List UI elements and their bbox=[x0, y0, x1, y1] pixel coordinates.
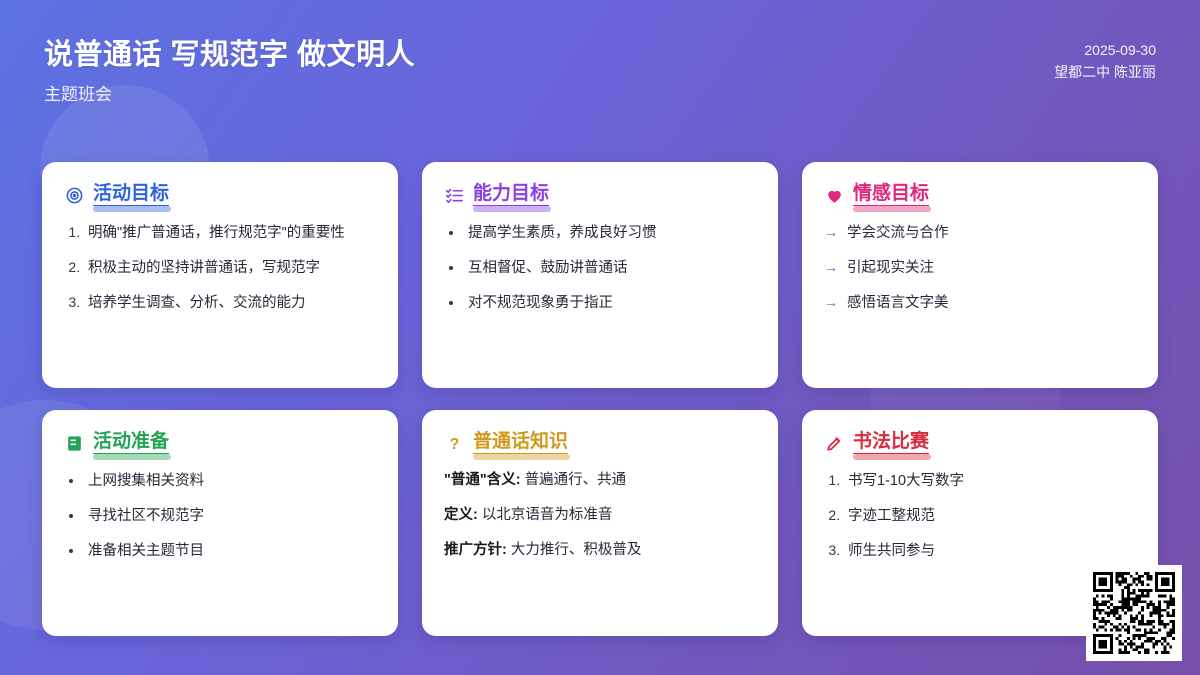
list-item: 师生共同参与 bbox=[844, 540, 1136, 562]
list-item-value: 大力推行、积极普及 bbox=[511, 542, 642, 558]
list-item-key: 定义: bbox=[444, 507, 478, 523]
qr-code-image bbox=[1093, 572, 1175, 654]
card-title: 活动目标 bbox=[93, 184, 169, 206]
arrow-right-icon: → bbox=[824, 292, 838, 312]
checklist-icon bbox=[444, 185, 464, 205]
card-title-underline bbox=[853, 454, 931, 460]
card-title-underline bbox=[853, 206, 931, 212]
list-item: 定义: 以北京语音为标准音 bbox=[444, 505, 756, 526]
card-title-underline bbox=[473, 454, 570, 460]
list-item: 字迹工整规范 bbox=[844, 505, 1136, 527]
heart-icon bbox=[824, 185, 844, 205]
list-item-value: 普遍通行、共通 bbox=[525, 472, 627, 488]
card-title-underline bbox=[93, 454, 171, 460]
card-emotional-goals: 情感目标→学会交流与合作→引起现实关注→感悟语言文字美 bbox=[802, 162, 1158, 388]
card-header: 活动目标 bbox=[64, 184, 169, 206]
list-item-key: 推广方针: bbox=[444, 542, 507, 558]
list-item: 书写1-10大写数字 bbox=[844, 470, 1136, 492]
list-item: 上网搜集相关资料 bbox=[84, 470, 376, 492]
list-item: 寻找社区不规范字 bbox=[84, 505, 376, 527]
page-title: 说普通话 写规范字 做文明人 bbox=[44, 38, 415, 73]
card-title-underline bbox=[473, 206, 551, 212]
card-item-list: 提高学生素质，养成良好习惯互相督促、鼓励讲普通话对不规范现象勇于指正 bbox=[444, 222, 756, 314]
header-date: 2025-09-30 bbox=[1054, 40, 1156, 62]
card-ability-goals: 能力目标提高学生素质，养成良好习惯互相督促、鼓励讲普通话对不规范现象勇于指正 bbox=[422, 162, 778, 388]
card-item-list: →学会交流与合作→引起现实关注→感悟语言文字美 bbox=[824, 222, 1136, 314]
card-item-list: 书写1-10大写数字字迹工整规范师生共同参与 bbox=[824, 470, 1136, 562]
list-item: 明确"推广普通话，推行规范字"的重要性 bbox=[84, 222, 376, 244]
pencil-icon bbox=[824, 433, 844, 453]
header-author: 望都二中 陈亚丽 bbox=[1054, 62, 1156, 84]
card-title-underline bbox=[93, 206, 171, 212]
list-item: →引起现实关注 bbox=[824, 257, 1136, 279]
list-item: →感悟语言文字美 bbox=[824, 292, 1136, 314]
svg-text:?: ? bbox=[449, 436, 459, 453]
list-item: 推广方针: 大力推行、积极普及 bbox=[444, 540, 756, 561]
list-item: 积极主动的坚持讲普通话，写规范字 bbox=[84, 257, 376, 279]
target-icon bbox=[64, 185, 84, 205]
card-activity-goals: 活动目标明确"推广普通话，推行规范字"的重要性积极主动的坚持讲普通话，写规范字培… bbox=[42, 162, 398, 388]
card-item-list: "普通"含义: 普遍通行、共通定义: 以北京语音为标准音推广方针: 大力推行、积… bbox=[444, 470, 756, 561]
card-mandarin-knowledge: ?普通话知识"普通"含义: 普遍通行、共通定义: 以北京语音为标准音推广方针: … bbox=[422, 410, 778, 636]
card-header: 活动准备 bbox=[64, 432, 169, 454]
list-item: "普通"含义: 普遍通行、共通 bbox=[444, 470, 756, 491]
list-item-key: "普通"含义: bbox=[444, 472, 521, 488]
card-header: ?普通话知识 bbox=[444, 432, 568, 454]
list-item-label: 学会交流与合作 bbox=[847, 223, 949, 244]
card-activity-preparation: 活动准备上网搜集相关资料寻找社区不规范字准备相关主题节目 bbox=[42, 410, 398, 636]
card-item-list: 明确"推广普通话，推行规范字"的重要性积极主动的坚持讲普通话，写规范字培养学生调… bbox=[64, 222, 376, 314]
list-item-value: 以北京语音为标准音 bbox=[482, 507, 613, 523]
card-header: 情感目标 bbox=[824, 184, 929, 206]
book-icon bbox=[64, 433, 84, 453]
card-header: 书法比赛 bbox=[824, 432, 929, 454]
list-item: 对不规范现象勇于指正 bbox=[464, 292, 756, 314]
slide-header: 说普通话 写规范字 做文明人 主题班会 2025-09-30 望都二中 陈亚丽 bbox=[0, 0, 1200, 150]
list-item-label: 引起现实关注 bbox=[847, 258, 934, 279]
list-item: →学会交流与合作 bbox=[824, 222, 1136, 244]
list-item: 培养学生调查、分析、交流的能力 bbox=[84, 292, 376, 314]
slide-root: 说普通话 写规范字 做文明人 主题班会 2025-09-30 望都二中 陈亚丽 … bbox=[0, 0, 1200, 675]
card-header: 能力目标 bbox=[444, 184, 549, 206]
header-meta: 2025-09-30 望都二中 陈亚丽 bbox=[1054, 0, 1156, 83]
card-title: 活动准备 bbox=[93, 432, 169, 454]
list-item: 提高学生素质，养成良好习惯 bbox=[464, 222, 756, 244]
list-item-label: 感悟语言文字美 bbox=[847, 293, 949, 314]
card-title: 能力目标 bbox=[473, 184, 549, 206]
question-icon: ? bbox=[444, 433, 464, 453]
arrow-right-icon: → bbox=[824, 222, 838, 242]
card-item-list: 上网搜集相关资料寻找社区不规范字准备相关主题节目 bbox=[64, 470, 376, 562]
page-subtitle: 主题班会 bbox=[44, 85, 415, 105]
card-title: 情感目标 bbox=[853, 184, 929, 206]
qr-code[interactable] bbox=[1086, 565, 1182, 661]
arrow-right-icon: → bbox=[824, 257, 838, 277]
card-title: 书法比赛 bbox=[853, 432, 929, 454]
list-item: 准备相关主题节目 bbox=[84, 540, 376, 562]
header-left: 说普通话 写规范字 做文明人 主题班会 bbox=[44, 0, 415, 105]
card-title: 普通话知识 bbox=[473, 432, 568, 454]
list-item: 互相督促、鼓励讲普通话 bbox=[464, 257, 756, 279]
card-grid: 活动目标明确"推广普通话，推行规范字"的重要性积极主动的坚持讲普通话，写规范字培… bbox=[42, 162, 1158, 636]
